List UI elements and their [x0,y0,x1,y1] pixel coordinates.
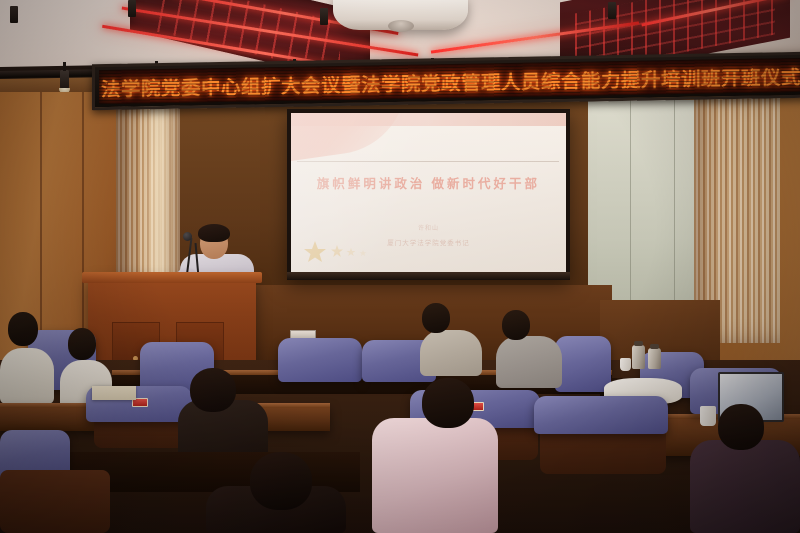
tea-cup [620,358,631,371]
chair [278,338,362,382]
podium-top [82,272,262,283]
attendee-front-pink-body [372,418,498,533]
conference-hall-photo: 法学院党委中心组扩大会议暨法学院党政管理人员综合能力提升培训班开班仪式 旗帜鲜明… [0,0,800,533]
ceiling-downlight [608,2,616,19]
attendee-front-pink-head [422,378,474,428]
slide-surface: 旗帜鲜明讲政治 做新时代好干部 许和山 厦门大学法学院党委书记 [291,113,566,276]
ceiling-downlight [128,0,136,17]
attendee-mid-grey-body [420,330,482,376]
ceiling-downlight [320,8,328,25]
projection-screen: 旗帜鲜明讲政治 做新时代好干部 许和山 厦门大学法学院党委书记 [287,109,570,280]
led-banner-inner: 法学院党委中心组扩大会议暨法学院党政管理人员综合能力提升培训班开班仪式 [99,58,800,104]
ceiling-downlight [10,6,18,23]
curtain-left-highlight [140,100,178,290]
attendee-mid-2-head [502,310,530,340]
attendee-front-center-head [190,368,236,412]
speaker-hair [198,224,230,242]
attendee-front-left-head [250,452,312,510]
attendee-mid-2-body [496,336,562,388]
screen-glare [291,113,566,276]
screen-bottom-bar [287,272,570,279]
attendee-mid-grey-head [422,303,450,333]
thermos-flask [632,345,645,369]
led-scanline-overlay [99,58,800,104]
attendee-back-left-head [8,312,38,346]
tea-cup [700,406,716,426]
chair-shell [0,470,110,533]
microphone-icon [183,232,192,241]
projector-lens-icon [388,20,414,32]
thermos-flask [648,348,661,369]
attendee-back-2-head [68,328,96,360]
track-spotlight [60,70,69,90]
attendee-right-floral-body [690,440,800,533]
chair [534,396,668,434]
chair [555,336,611,392]
document-papers [92,386,136,400]
attendee-right-floral-head [718,404,764,450]
attendee-back-left-body [0,348,54,404]
